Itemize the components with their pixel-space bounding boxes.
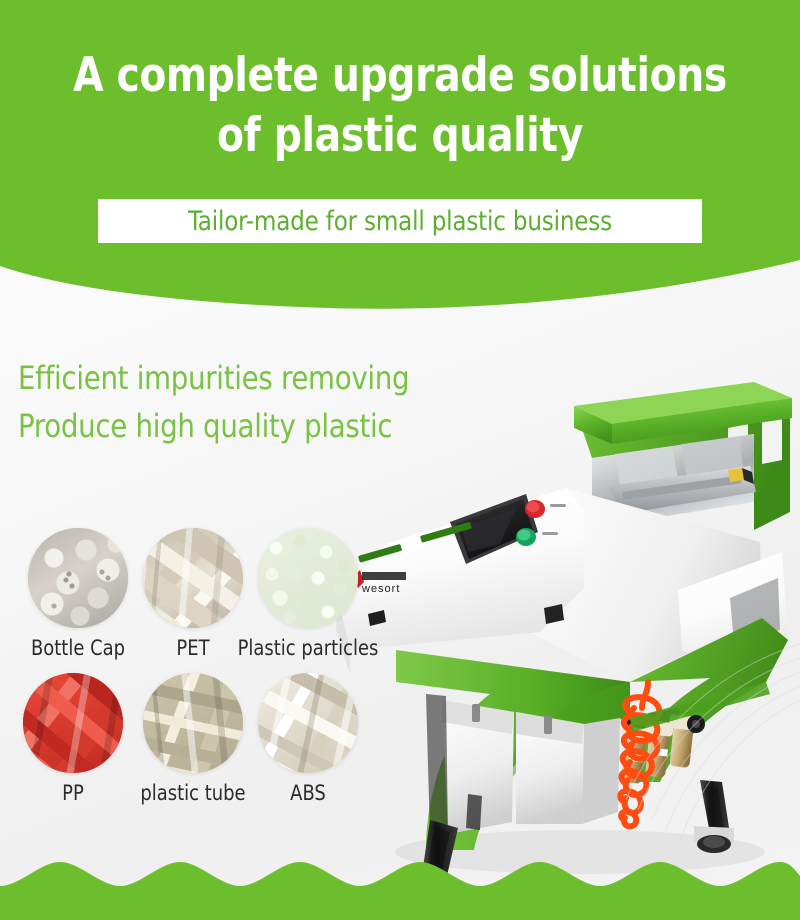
subtitle-text: Tailor-made for small plastic business <box>188 206 612 237</box>
sample-label-bottle-cap: Bottle Cap <box>12 636 145 660</box>
machine-air-hose <box>620 682 659 826</box>
sample-image-pp <box>23 673 123 773</box>
color-sorter-machine: wesort <box>330 382 800 882</box>
header-content: A complete upgrade solutions of plastic … <box>0 0 800 262</box>
svg-text:wesort: wesort <box>361 583 400 595</box>
sample-image-abs <box>258 673 358 773</box>
sample-label-abs: ABS <box>242 781 375 805</box>
sample-image-plastic-tube <box>143 673 243 773</box>
sample-image-plastic-particles <box>258 528 358 628</box>
sample-image-pet <box>143 528 243 628</box>
sample-label-plastic-particles: Plastic particles <box>232 636 384 660</box>
sample-label-pp: PP <box>7 781 140 805</box>
promo-banner: A complete upgrade solutions of plastic … <box>0 0 800 920</box>
footer-wave <box>0 850 800 920</box>
page-title: A complete upgrade solutions of plastic … <box>28 46 772 166</box>
subtitle-banner: Tailor-made for small plastic business <box>98 199 702 243</box>
sample-image-bottle-cap <box>28 528 128 628</box>
